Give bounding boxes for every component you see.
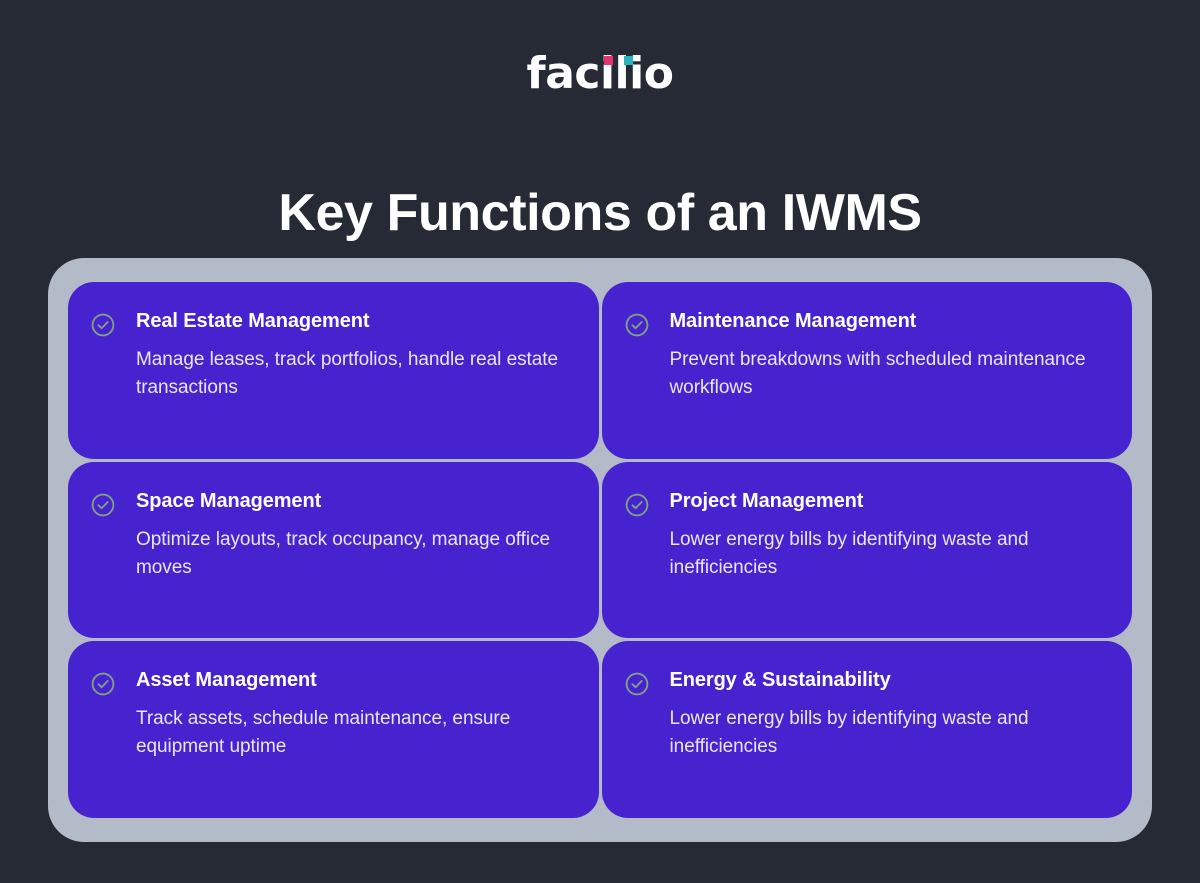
function-card[interactable]: Maintenance Management Prevent breakdown…	[602, 282, 1133, 459]
infographic-page: facilio Key Functions of an IWMS Real Es…	[0, 0, 1200, 883]
check-circle-icon	[624, 312, 650, 338]
logo-pink-dot-icon	[604, 56, 613, 65]
function-card-body: Space Management Optimize layouts, track…	[136, 488, 569, 582]
facilio-logo: facilio	[527, 48, 674, 100]
function-card[interactable]: Energy & Sustainability Lower energy bil…	[602, 641, 1133, 818]
function-card-title: Space Management	[136, 488, 569, 514]
logo-teal-dot-icon	[624, 56, 633, 65]
function-card-title: Real Estate Management	[136, 308, 569, 334]
function-card-title: Energy & Sustainability	[670, 667, 1103, 693]
function-card-description: Manage leases, track portfolios, handle …	[136, 346, 569, 402]
function-card-body: Maintenance Management Prevent breakdown…	[670, 308, 1103, 402]
brand-logo: facilio	[0, 48, 1200, 100]
check-circle-icon	[624, 671, 650, 697]
function-card-description: Lower energy bills by identifying waste …	[670, 705, 1103, 761]
function-card-title: Project Management	[670, 488, 1103, 514]
functions-grid: Real Estate Management Manage leases, tr…	[68, 282, 1132, 818]
function-card-description: Prevent breakdowns with scheduled mainte…	[670, 346, 1103, 402]
function-card-body: Real Estate Management Manage leases, tr…	[136, 308, 569, 402]
page-title: Key Functions of an IWMS	[0, 180, 1200, 246]
check-circle-icon	[624, 492, 650, 518]
function-card-body: Project Management Lower energy bills by…	[670, 488, 1103, 582]
check-circle-icon	[90, 492, 116, 518]
functions-panel: Real Estate Management Manage leases, tr…	[48, 258, 1152, 842]
function-card-description: Track assets, schedule maintenance, ensu…	[136, 705, 569, 761]
check-circle-icon	[90, 671, 116, 697]
function-card-body: Asset Management Track assets, schedule …	[136, 667, 569, 761]
facilio-logo-text: facilio	[527, 48, 674, 100]
function-card[interactable]: Space Management Optimize layouts, track…	[68, 462, 599, 639]
function-card-title: Maintenance Management	[670, 308, 1103, 334]
function-card[interactable]: Project Management Lower energy bills by…	[602, 462, 1133, 639]
function-card-title: Asset Management	[136, 667, 569, 693]
function-card-body: Energy & Sustainability Lower energy bil…	[670, 667, 1103, 761]
function-card-description: Lower energy bills by identifying waste …	[670, 526, 1103, 582]
function-card-description: Optimize layouts, track occupancy, manag…	[136, 526, 569, 582]
function-card[interactable]: Asset Management Track assets, schedule …	[68, 641, 599, 818]
check-circle-icon	[90, 312, 116, 338]
function-card[interactable]: Real Estate Management Manage leases, tr…	[68, 282, 599, 459]
